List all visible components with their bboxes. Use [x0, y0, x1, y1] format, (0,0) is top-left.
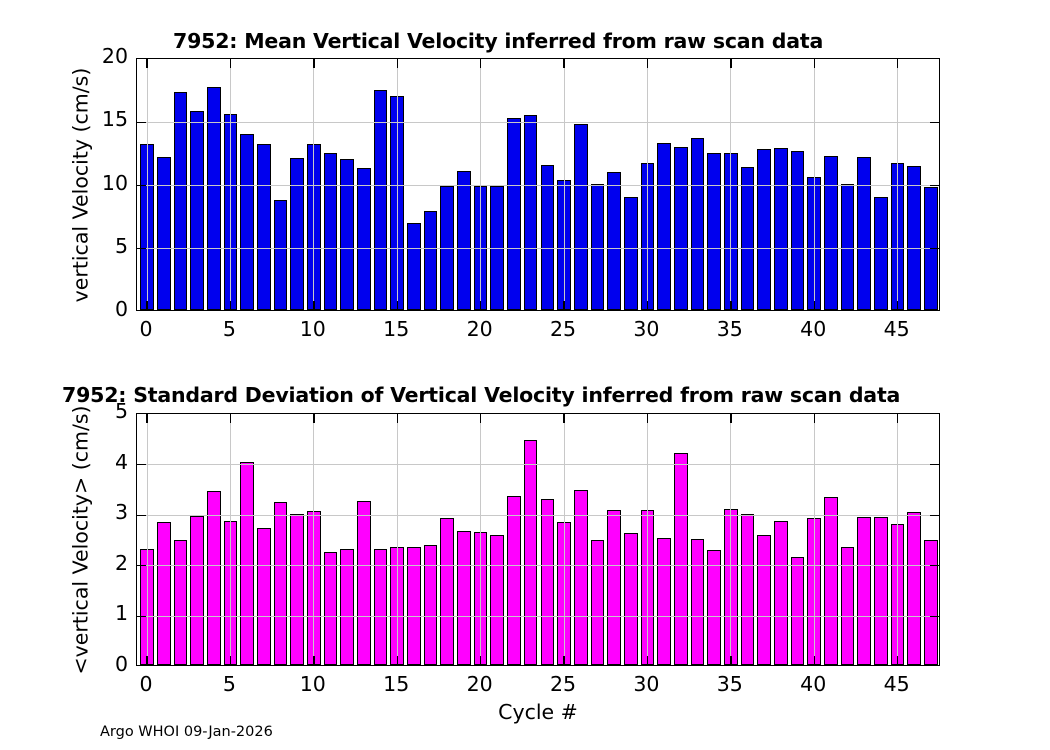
gridline-horizontal	[137, 248, 939, 249]
x-axis-tick	[397, 301, 398, 310]
x-axis-tick	[563, 656, 564, 665]
footer-credit: Argo WHOI 09-Jan-2026	[100, 724, 273, 740]
gridline-vertical	[564, 59, 565, 310]
x-axis-tick	[897, 59, 898, 68]
bar	[257, 528, 271, 665]
x-axis-tick	[230, 656, 231, 665]
x-axis-tick-label: 40	[783, 317, 843, 341]
gridline-vertical	[897, 414, 898, 665]
panel-title-std: 7952: Standard Deviation of Vertical Vel…	[62, 383, 900, 407]
gridline-vertical	[397, 59, 398, 310]
bar	[691, 539, 705, 665]
bar	[574, 490, 588, 665]
bar	[874, 517, 888, 665]
bar	[374, 90, 388, 310]
x-axis-tick	[480, 656, 481, 665]
panel-title-mean: 7952: Mean Vertical Velocity inferred fr…	[173, 29, 823, 53]
x-axis-tick-label: 35	[700, 317, 760, 341]
x-axis-tick-label: 15	[366, 672, 426, 696]
gridline-vertical	[313, 59, 314, 310]
y-axis-tick-label: 4	[94, 450, 128, 474]
x-axis-tick	[647, 656, 648, 665]
y-axis-tick-label: 5	[94, 399, 128, 423]
bar	[907, 512, 921, 665]
gridline-vertical	[147, 414, 148, 665]
bar	[874, 197, 888, 310]
bar	[791, 557, 805, 665]
bar	[657, 143, 671, 310]
bar	[357, 168, 371, 310]
gridline-vertical	[647, 59, 648, 310]
bar	[274, 200, 288, 310]
x-axis-tick	[647, 414, 648, 423]
y-axis-tick	[930, 122, 939, 123]
x-axis-tick	[146, 301, 147, 310]
bar	[507, 118, 521, 310]
x-axis-tick-label: 10	[283, 672, 343, 696]
x-axis-tick	[814, 59, 815, 68]
x-axis-tick	[230, 301, 231, 310]
bar	[707, 153, 721, 310]
bar	[624, 533, 638, 665]
gridline-vertical	[897, 59, 898, 310]
plot-area-std	[136, 413, 940, 666]
y-axis-tick-label: 5	[94, 234, 128, 258]
x-axis-tick-label: 5	[199, 317, 259, 341]
x-axis-tick	[647, 59, 648, 68]
x-axis-tick-label: 30	[616, 317, 676, 341]
x-axis-tick-label: 45	[867, 317, 927, 341]
bar	[190, 111, 204, 310]
x-axis-tick-label: 45	[867, 672, 927, 696]
gridline-horizontal	[137, 616, 939, 617]
x-axis-tick	[897, 301, 898, 310]
y-axis-tick	[137, 122, 146, 123]
bar	[457, 171, 471, 310]
x-axis-tick	[563, 59, 564, 68]
x-axis-tick-label: 20	[450, 672, 510, 696]
x-axis-tick	[397, 656, 398, 665]
bar	[774, 521, 788, 665]
x-axis-tick	[730, 656, 731, 665]
bar	[490, 535, 504, 665]
bar	[407, 223, 421, 310]
bar	[691, 138, 705, 310]
x-axis-tick	[730, 59, 731, 68]
bar	[857, 157, 871, 310]
bar	[174, 92, 188, 310]
bar	[674, 147, 688, 310]
x-axis-tick-label: 25	[533, 672, 593, 696]
figure-root: 7952: Mean Vertical Velocity inferred fr…	[0, 0, 1050, 750]
x-axis-tick	[146, 656, 147, 665]
x-axis-tick-label: 0	[116, 317, 176, 341]
gridline-horizontal	[137, 185, 939, 186]
x-axis-tick	[313, 414, 314, 423]
y-axis-tick	[930, 565, 939, 566]
bar	[290, 514, 304, 665]
x-axis-tick	[897, 414, 898, 423]
y-axis-label-mean: vertical Velocity (cm/s)	[68, 68, 92, 303]
y-axis-tick	[137, 464, 146, 465]
y-axis-tick-label: 20	[94, 44, 128, 68]
x-axis-tick	[563, 301, 564, 310]
y-axis-tick	[930, 248, 939, 249]
x-axis-tick	[814, 656, 815, 665]
bar	[324, 552, 338, 665]
bar	[674, 453, 688, 665]
bar	[440, 518, 454, 665]
gridline-vertical	[647, 414, 648, 665]
y-axis-label-std: <vertical Velocity> (cm/s)	[68, 405, 92, 674]
x-axis-tick-label: 0	[116, 672, 176, 696]
bar	[340, 549, 354, 665]
y-axis-tick	[137, 248, 146, 249]
bar	[857, 517, 871, 665]
bar	[524, 440, 538, 665]
x-axis-tick	[480, 301, 481, 310]
bar	[824, 156, 838, 310]
x-axis-tick	[397, 414, 398, 423]
x-axis-tick-label: 30	[616, 672, 676, 696]
x-axis-tick	[230, 414, 231, 423]
bar	[591, 184, 605, 311]
bar	[574, 124, 588, 310]
bar	[924, 540, 938, 665]
bar	[507, 496, 521, 666]
bar	[791, 151, 805, 310]
gridline-vertical	[730, 414, 731, 665]
y-axis-tick-label: 2	[94, 551, 128, 575]
y-axis-tick-label: 1	[94, 601, 128, 625]
x-axis-tick-label: 15	[366, 317, 426, 341]
x-axis-tick-label: 35	[700, 672, 760, 696]
gridline-vertical	[814, 59, 815, 310]
bar	[657, 538, 671, 666]
bar	[541, 165, 555, 310]
gridline-vertical	[230, 414, 231, 665]
bar-series-std	[137, 414, 939, 665]
y-axis-tick	[930, 616, 939, 617]
bar	[257, 144, 271, 310]
bar	[157, 522, 171, 665]
x-axis-tick	[230, 59, 231, 68]
bar	[190, 516, 204, 665]
gridline-vertical	[313, 414, 314, 665]
x-axis-label-cycle: Cycle #	[13, 700, 1050, 724]
y-axis-tick-label: 10	[94, 171, 128, 195]
bar	[457, 531, 471, 665]
bar	[207, 491, 221, 665]
bar	[324, 153, 338, 310]
x-axis-tick	[397, 59, 398, 68]
bar	[624, 197, 638, 310]
bar	[757, 149, 771, 310]
bar	[240, 134, 254, 310]
bar	[290, 158, 304, 310]
x-axis-tick-label: 10	[283, 317, 343, 341]
y-axis-tick	[930, 185, 939, 186]
y-axis-tick	[930, 515, 939, 516]
gridline-vertical	[814, 414, 815, 665]
gridline-horizontal	[137, 122, 939, 123]
gridline-vertical	[480, 414, 481, 665]
x-axis-tick	[563, 414, 564, 423]
x-axis-tick	[313, 59, 314, 68]
x-axis-tick	[814, 301, 815, 310]
x-axis-tick	[730, 414, 731, 423]
bar	[424, 545, 438, 665]
bar	[240, 462, 254, 665]
x-axis-tick-label: 20	[450, 317, 510, 341]
y-axis-tick	[137, 616, 146, 617]
bar	[741, 514, 755, 665]
x-axis-tick	[814, 414, 815, 423]
gridline-vertical	[147, 59, 148, 310]
gridline-vertical	[730, 59, 731, 310]
y-axis-tick	[137, 185, 146, 186]
gridline-horizontal	[137, 565, 939, 566]
bar	[607, 172, 621, 310]
y-axis-tick-label: 3	[94, 500, 128, 524]
x-axis-tick-label: 40	[783, 672, 843, 696]
y-axis-tick	[137, 515, 146, 516]
y-axis-tick	[137, 565, 146, 566]
bar	[591, 540, 605, 665]
gridline-horizontal	[137, 464, 939, 465]
bar	[841, 184, 855, 311]
x-axis-tick-label: 5	[199, 672, 259, 696]
bar	[340, 159, 354, 310]
gridline-vertical	[230, 59, 231, 310]
gridline-vertical	[564, 414, 565, 665]
x-axis-tick	[480, 59, 481, 68]
bar	[607, 510, 621, 665]
x-axis-tick	[897, 656, 898, 665]
y-axis-tick	[930, 464, 939, 465]
x-axis-tick	[146, 59, 147, 68]
bar	[707, 550, 721, 665]
x-axis-tick	[480, 414, 481, 423]
x-axis-tick	[730, 301, 731, 310]
bar	[157, 157, 171, 310]
x-axis-tick	[647, 301, 648, 310]
bar	[424, 211, 438, 310]
bar	[757, 535, 771, 665]
bar	[274, 502, 288, 665]
bar	[374, 549, 388, 665]
bar	[741, 167, 755, 310]
plot-area-mean	[136, 58, 940, 311]
bar	[774, 148, 788, 310]
y-axis-tick-label: 15	[94, 107, 128, 131]
bar	[824, 497, 838, 665]
x-axis-tick	[313, 301, 314, 310]
bar	[174, 540, 188, 665]
gridline-vertical	[397, 414, 398, 665]
gridline-vertical	[480, 59, 481, 310]
x-axis-tick	[146, 414, 147, 423]
bar	[541, 499, 555, 665]
x-axis-tick-label: 25	[533, 317, 593, 341]
bar	[524, 115, 538, 310]
gridline-horizontal	[137, 515, 939, 516]
x-axis-tick	[313, 656, 314, 665]
bar	[907, 166, 921, 310]
bar	[357, 501, 371, 665]
